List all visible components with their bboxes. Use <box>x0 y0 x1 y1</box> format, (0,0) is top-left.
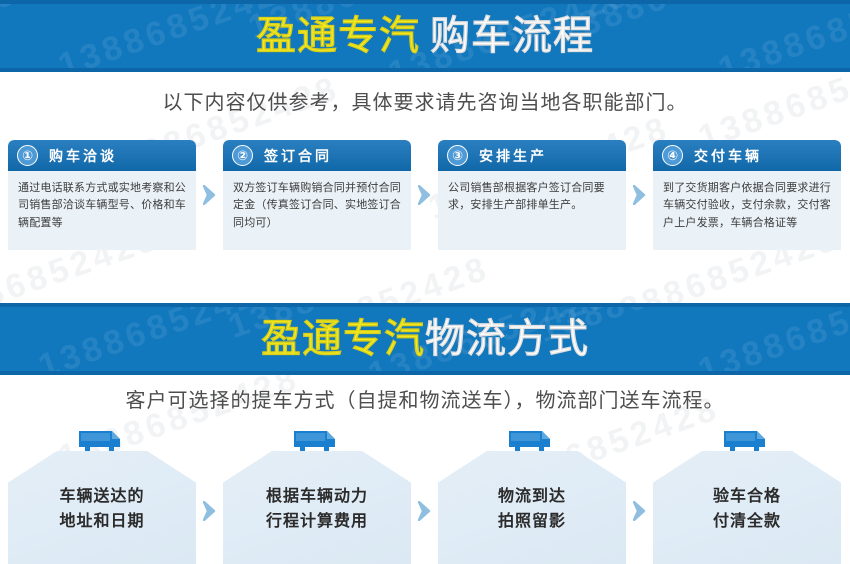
step-title: 购车洽谈 <box>49 146 117 166</box>
step-number-badge: ② <box>232 145 253 166</box>
step-number-badge: ① <box>17 145 38 166</box>
purchase-step-card[interactable]: ① 购车洽谈 通过电话联系方式或实地考察和公司销售部洽谈车辆型号、价格和车辆配置… <box>8 140 196 250</box>
step-title: 安排生产 <box>479 146 547 166</box>
purchase-step-card[interactable]: ④ 交付车辆 到了交货期客户依据合同要求进行车辆交付验收，支付余款，交付客户上户… <box>653 140 841 250</box>
logistics-card-line2: 拍照留影 <box>438 509 626 534</box>
purchase-banner-brand: 盈通专汽 <box>256 16 420 56</box>
logistics-step-card[interactable]: 验车合格 付清全款 <box>653 428 841 564</box>
chevron-right-icon <box>418 185 431 205</box>
logistics-arrow-separator <box>411 428 438 564</box>
logistics-card-line1: 根据车辆动力 <box>223 484 411 509</box>
chevron-right-icon <box>418 501 431 521</box>
logistics-step-card[interactable]: 车辆送达的 地址和日期 <box>8 428 196 564</box>
logistics-subtitle: 客户可选择的提车方式（自提和物流送车），物流部门送车流程。 <box>0 384 850 413</box>
step-number-badge: ④ <box>662 145 683 166</box>
logistics-banner-title: 物流方式 <box>425 319 589 359</box>
truck-icon <box>76 428 128 455</box>
logistics-step-card[interactable]: 物流到达 拍照留影 <box>438 428 626 564</box>
step-body-text: 公司销售部根据客户签订合同要求，安排生产部排单生产。 <box>438 171 626 215</box>
step-arrow-separator <box>626 140 653 250</box>
logistics-card-text: 物流到达 拍照留影 <box>438 484 626 535</box>
chevron-right-icon <box>203 185 216 205</box>
logistics-card-line2: 地址和日期 <box>8 509 196 534</box>
logistics-banner-brand: 盈通专汽 <box>261 319 425 359</box>
logistics-card-line1: 验车合格 <box>653 484 841 509</box>
logistics-banner: 13886852428 13886852428 13886852428 1388… <box>0 303 850 375</box>
logistics-card-text: 根据车辆动力 行程计算费用 <box>223 484 411 535</box>
step-body-text: 双方签订车辆购销合同并预付合同定金（传真签订合同、实地签订合同均可） <box>223 171 411 232</box>
purchase-step-card[interactable]: ③ 安排生产 公司销售部根据客户签订合同要求，安排生产部排单生产。 <box>438 140 626 250</box>
truck-icon <box>506 428 558 455</box>
purchase-step-header: ④ 交付车辆 <box>653 140 841 171</box>
logistics-card-text: 验车合格 付清全款 <box>653 484 841 535</box>
truck-icon <box>291 428 343 455</box>
purchase-banner: 13886852428 13886852428 13886852428 1388… <box>0 0 850 72</box>
purchase-step-card[interactable]: ② 签订合同 双方签订车辆购销合同并预付合同定金（传真签订合同、实地签订合同均可… <box>223 140 411 250</box>
step-arrow-separator <box>196 140 223 250</box>
logistics-arrow-separator <box>196 428 223 564</box>
logistics-card-line2: 行程计算费用 <box>223 509 411 534</box>
logistics-step-card[interactable]: 根据车辆动力 行程计算费用 <box>223 428 411 564</box>
chevron-right-icon <box>633 185 646 205</box>
logistics-card-line1: 车辆送达的 <box>8 484 196 509</box>
purchase-step-header: ① 购车洽谈 <box>8 140 196 171</box>
logistics-arrow-separator <box>626 428 653 564</box>
chevron-right-icon <box>633 501 646 521</box>
chevron-right-icon <box>203 501 216 521</box>
logistics-card-line1: 物流到达 <box>438 484 626 509</box>
step-body-text: 通过电话联系方式或实地考察和公司销售部洽谈车辆型号、价格和车辆配置等 <box>8 171 196 232</box>
step-title: 交付车辆 <box>694 146 762 166</box>
step-number-badge: ③ <box>447 145 468 166</box>
logistics-steps-row: 车辆送达的 地址和日期 根据车辆动力 行程计算费用 <box>8 428 846 564</box>
purchase-step-header: ③ 安排生产 <box>438 140 626 171</box>
truck-icon <box>721 428 773 455</box>
step-body-text: 到了交货期客户依据合同要求进行车辆交付验收，支付余款，交付客户上户发票，车辆合格… <box>653 171 841 232</box>
purchase-step-header: ② 签订合同 <box>223 140 411 171</box>
purchase-banner-title: 购车流程 <box>430 16 594 56</box>
purchase-subtitle: 以下内容仅供参考，具体要求请先咨询当地各职能部门。 <box>0 86 850 115</box>
step-title: 签订合同 <box>264 146 332 166</box>
logistics-card-text: 车辆送达的 地址和日期 <box>8 484 196 535</box>
logistics-card-line2: 付清全款 <box>653 509 841 534</box>
purchase-steps-row: ① 购车洽谈 通过电话联系方式或实地考察和公司销售部洽谈车辆型号、价格和车辆配置… <box>8 140 846 250</box>
step-arrow-separator <box>411 140 438 250</box>
